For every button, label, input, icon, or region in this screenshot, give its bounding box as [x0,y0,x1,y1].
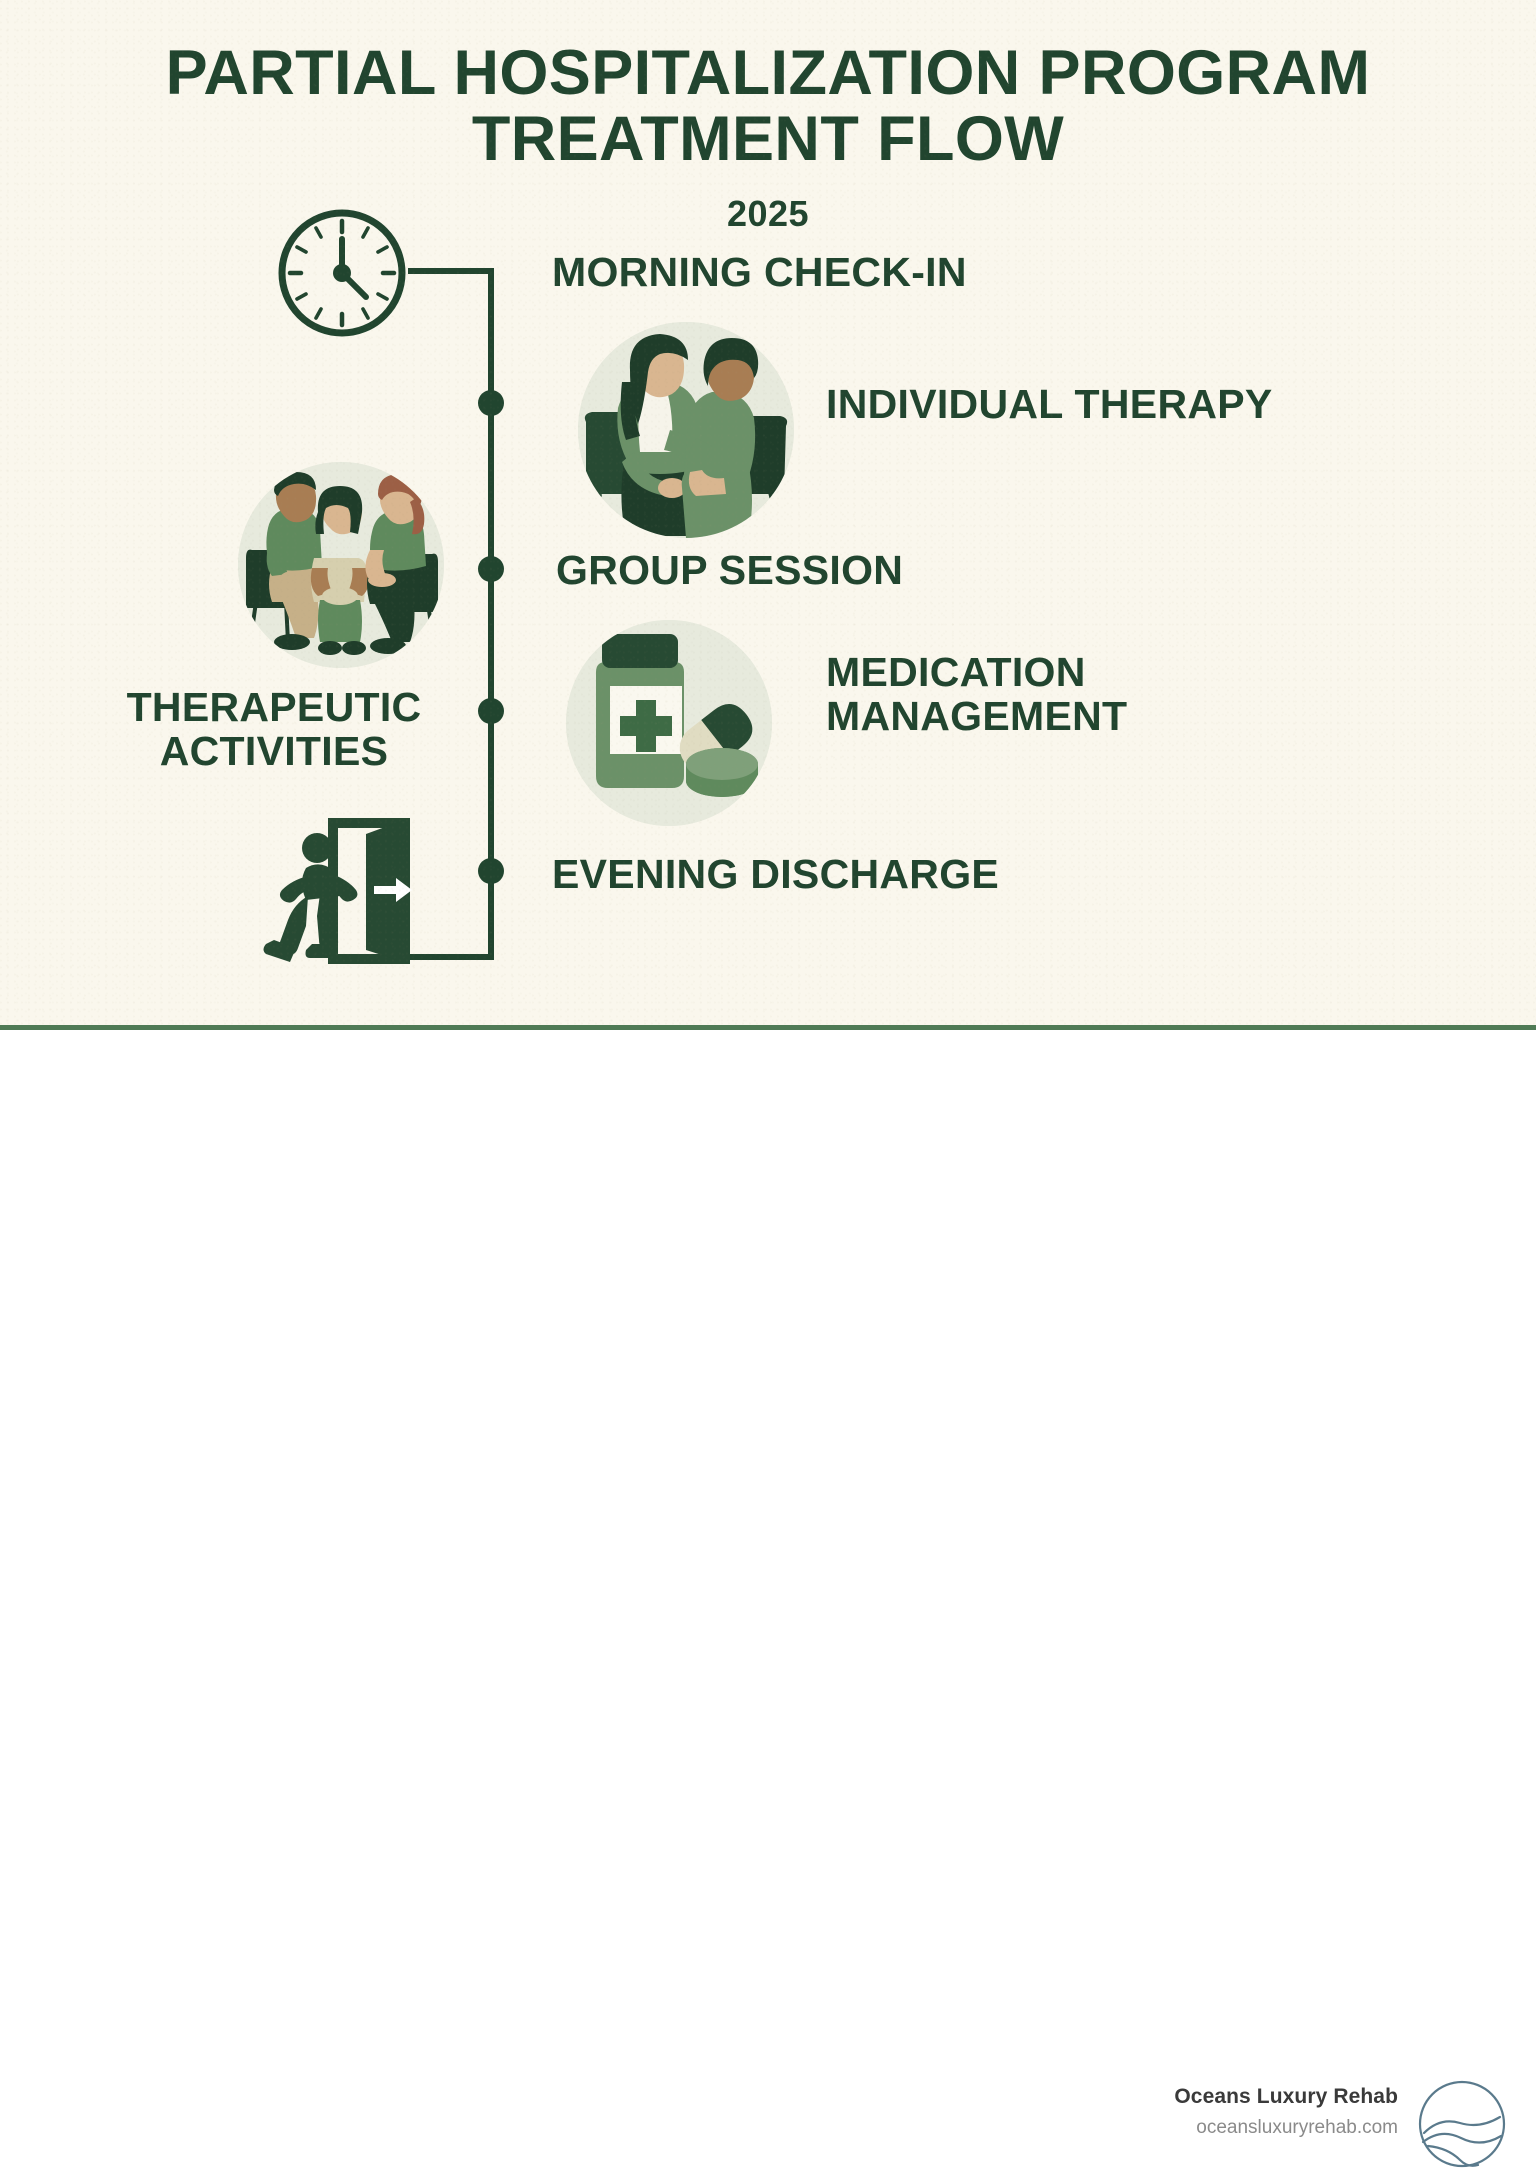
step-label-therapeutic-activities: THERAPEUTIC ACTIVITIES [100,685,448,774]
infographic-root: PARTIAL HOSPITALIZATION PROGRAM TREATMEN… [0,0,1536,1154]
page-title-line-2: TREATMENT FLOW [60,106,1476,172]
clock-icon [274,205,410,341]
step-label-evening-discharge: EVENING DISCHARGE [552,852,999,896]
step-label-group-session: GROUP SESSION [556,548,903,592]
page-title-line-1: PARTIAL HOSPITALIZATION PROGRAM [60,40,1476,106]
page-title: PARTIAL HOSPITALIZATION PROGRAM TREATMEN… [60,40,1476,172]
two-people-therapy-illustration [578,322,794,538]
timeline-node-3 [478,698,504,724]
step-label-therapeutic-activities-line-1: THERAPEUTIC [100,685,448,729]
timeline-node-2 [478,556,504,582]
step-label-medication-management: MEDICATION MANAGEMENT [826,650,1127,739]
timeline-node-4 [478,858,504,884]
brand-text-block: Oceans Luxury Rehab oceansluxuryrehab.co… [1174,2085,1398,2139]
pill-bottle-icon [566,620,772,826]
page-year: 2025 [60,193,1476,235]
footer: Oceans Luxury Rehab oceansluxuryrehab.co… [0,1030,1536,1154]
timeline-node-1 [478,390,504,416]
timeline-top-connector [408,268,494,274]
step-label-therapeutic-activities-line-2: ACTIVITIES [100,729,448,773]
timeline-spine [488,268,494,960]
step-label-medication-management-line-1: MEDICATION [826,650,1127,694]
step-label-medication-management-line-2: MANAGEMENT [826,694,1127,738]
infographic-canvas: PARTIAL HOSPITALIZATION PROGRAM TREATMEN… [0,0,1536,1025]
brand-name: Oceans Luxury Rehab [1174,2085,1398,2109]
exit-door-icon [262,812,448,972]
step-label-individual-therapy: INDIVIDUAL THERAPY [826,382,1273,426]
three-people-group-illustration [238,462,444,668]
brand-url: oceansluxuryrehab.com [1174,2117,1398,2139]
step-label-morning-check-in: MORNING CHECK-IN [552,250,967,294]
ocean-wave-circle-logo [1416,2078,1508,2170]
